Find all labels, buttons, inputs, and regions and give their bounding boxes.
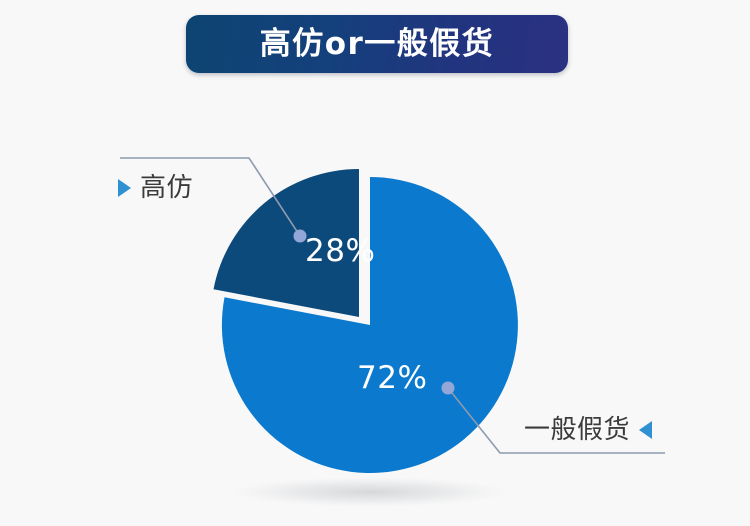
triangle-left-icon [639,421,652,439]
callout-label-high-imitation[interactable]: 高仿 [118,175,193,201]
pie-chart: 28% 72% [0,0,750,526]
slice-value-high-imitation: 28% [305,236,375,267]
triangle-right-icon [118,179,131,197]
chart-canvas: 高仿or一般假货 [0,0,750,526]
callout-label-ordinary-fake-text: 一般假货 [524,417,630,443]
callout-label-high-imitation-text: 高仿 [140,175,193,201]
slice-value-ordinary-fake: 72% [357,363,427,394]
leader-dot-ordinary-fake [442,382,455,395]
pie-ground-shadow [230,477,510,507]
callout-label-ordinary-fake[interactable]: 一般假货 [524,417,652,443]
